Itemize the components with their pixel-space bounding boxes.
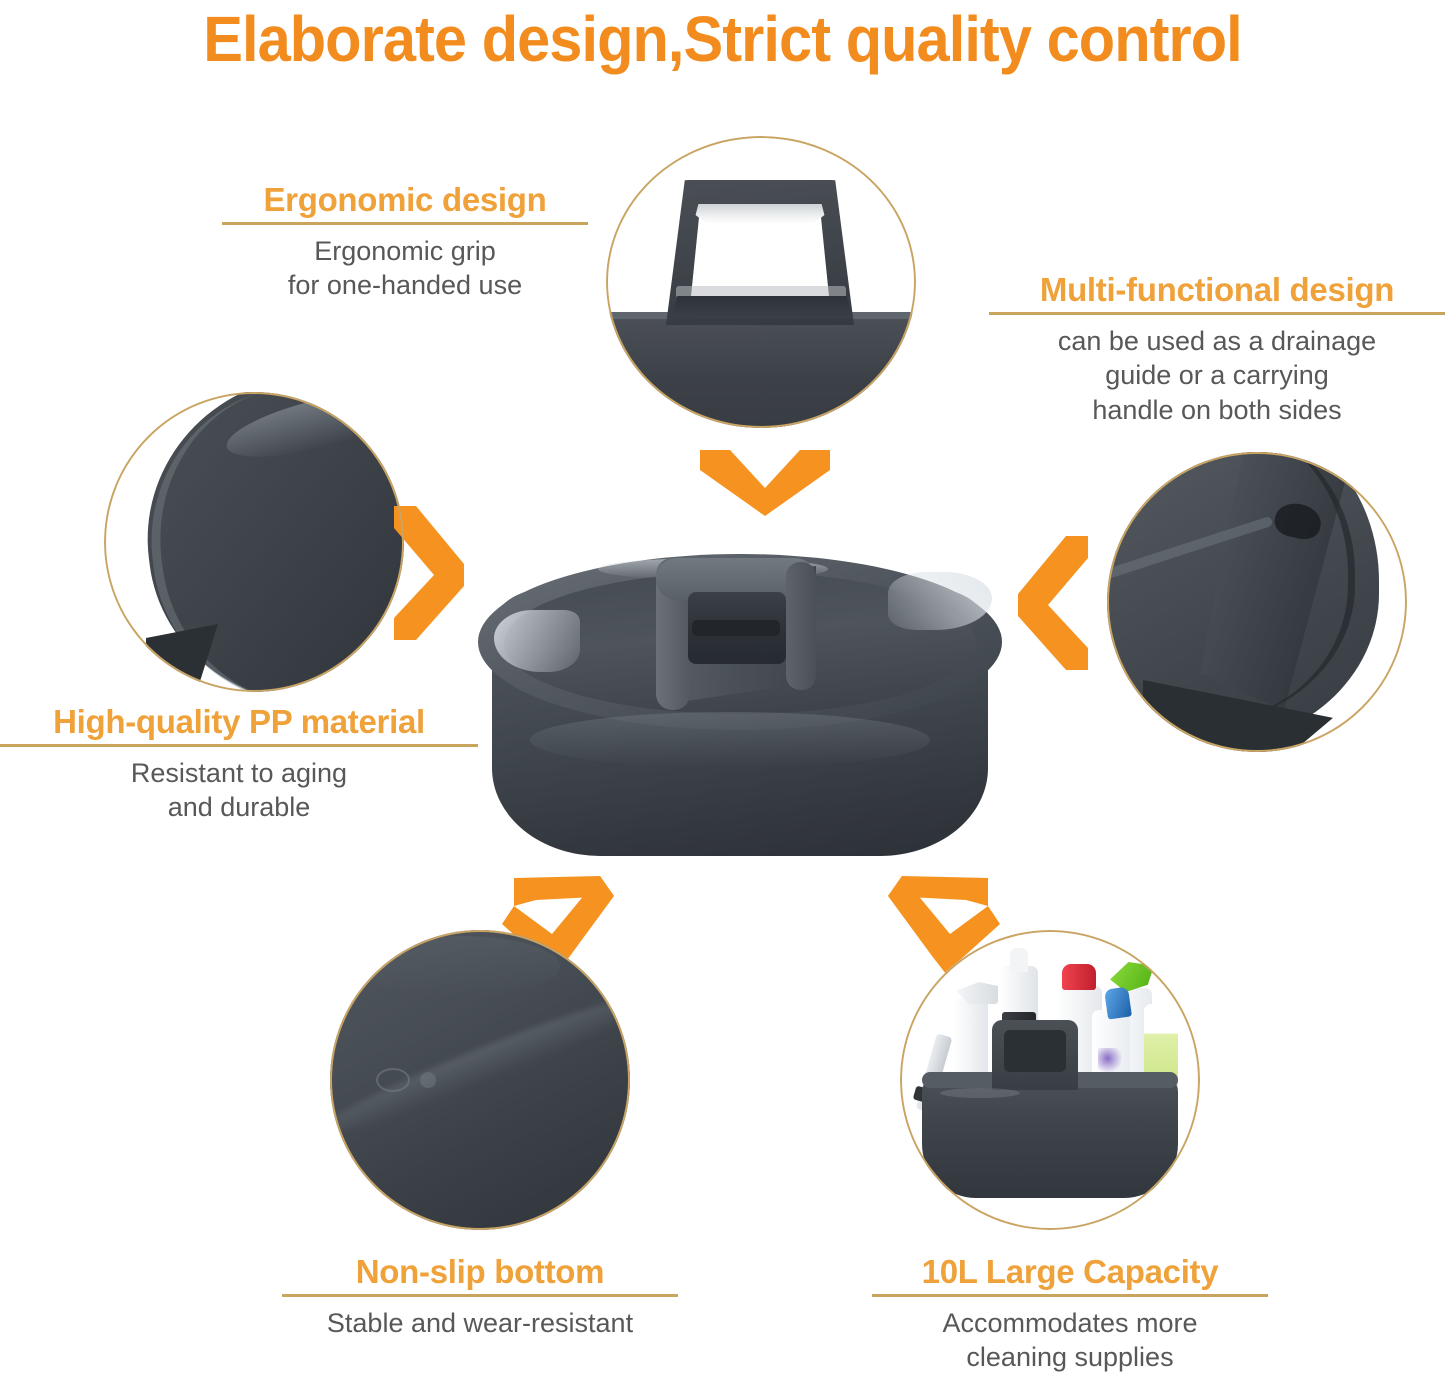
arrow-down-icon <box>700 448 830 516</box>
feature-body: Accommodates more cleaning supplies <box>872 1306 1268 1375</box>
handle-post-right <box>786 562 816 690</box>
red-bottle-cap <box>1062 964 1096 990</box>
feature-multi-functional-design: Multi-functional design can be used as a… <box>989 272 1445 427</box>
feature-body: can be used as a drainage guide or a car… <box>989 324 1445 428</box>
feature-underline <box>222 222 588 225</box>
callout-capacity-filled-caddy <box>900 930 1200 1230</box>
feature-large-capacity: 10L Large Capacity Accommodates more cle… <box>872 1254 1268 1375</box>
feature-underline <box>989 312 1445 315</box>
arrow-right-icon <box>392 506 464 640</box>
feature-title: High-quality PP material <box>0 704 478 740</box>
feature-title: Non-slip bottom <box>282 1254 678 1290</box>
handle-grip-slot <box>692 620 780 636</box>
handle-grip-ridges <box>690 204 830 224</box>
feature-title: 10L Large Capacity <box>872 1254 1268 1290</box>
callout-handle-closeup <box>606 136 916 428</box>
arrow-left-icon <box>1018 536 1090 670</box>
feature-ergonomic-design: Ergonomic design Ergonomic grip for one-… <box>222 182 588 303</box>
feature-underline <box>282 1294 678 1297</box>
callout-side-handle-closeup <box>1107 452 1407 752</box>
feature-non-slip-bottom: Non-slip bottom Stable and wear-resistan… <box>282 1254 678 1340</box>
feature-title: Ergonomic design <box>222 182 588 218</box>
body-gloss <box>530 712 930 768</box>
page-title: Elaborate design,Strict quality control <box>51 2 1395 76</box>
caddy-tub-handle-hole <box>1004 1030 1066 1072</box>
callout-non-slip-bottom <box>330 930 630 1230</box>
caddy-wall <box>606 314 916 428</box>
blue-bottle-cap <box>1104 986 1132 1019</box>
molding-ring-mark <box>376 1068 410 1092</box>
bottom-top-shading <box>360 936 560 996</box>
feature-underline <box>872 1294 1268 1297</box>
feature-body: Stable and wear-resistant <box>282 1306 678 1341</box>
molding-dot-mark <box>420 1072 436 1088</box>
caddy-corner-shadow <box>146 624 218 692</box>
filled-caddy-scene <box>900 930 1200 1230</box>
product-caddy <box>470 536 1010 866</box>
handle-base <box>672 296 852 318</box>
callout-material-closeup <box>104 392 404 692</box>
caddy-tub-highlight <box>940 1088 1020 1098</box>
blue-bottle-label-art <box>1098 1048 1122 1074</box>
bottle-pump-cap <box>1010 948 1028 972</box>
feature-high-quality-pp-material: High-quality PP material Resistant to ag… <box>0 704 478 825</box>
feature-underline <box>0 744 478 747</box>
feature-title: Multi-functional design <box>989 272 1445 308</box>
infographic-canvas: Elaborate design,Strict quality control … <box>0 0 1445 1392</box>
feature-body: Ergonomic grip for one-handed use <box>222 234 588 303</box>
feature-body: Resistant to aging and durable <box>0 756 478 825</box>
